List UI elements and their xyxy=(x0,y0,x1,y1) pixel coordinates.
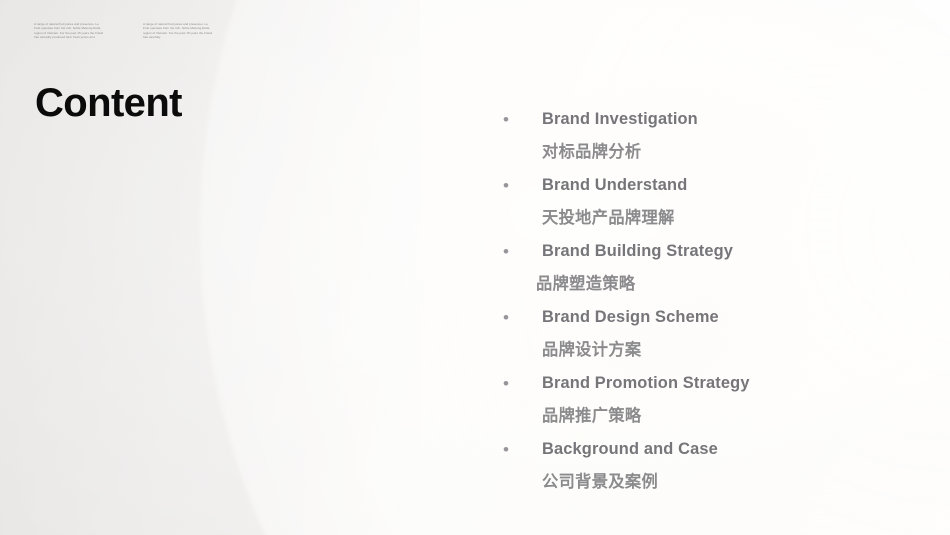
presentation-slide: A range of natural fruit juices and pres… xyxy=(0,0,950,535)
agenda-label-en: Brand Building Strategy xyxy=(521,240,923,262)
agenda-item-brand-building-strategy[interactable]: • Brand Building Strategy 品牌塑造策略 xyxy=(503,240,923,306)
micro-paragraph-left: A range of natural fruit juices and pres… xyxy=(34,22,105,40)
agenda-label-cn: 品牌推广策略 xyxy=(503,405,923,438)
agenda-list: • Brand Investigation 对标品牌分析 • Brand Und… xyxy=(503,108,923,504)
micro-paragraph-right: A range of natural fruit juices and pres… xyxy=(143,22,214,40)
agenda-label-en: Brand Understand xyxy=(521,174,923,196)
agenda-label-en: Background and Case xyxy=(521,438,923,460)
agenda-label-cn: 对标品牌分析 xyxy=(503,141,923,174)
agenda-label-cn: 公司背景及案例 xyxy=(503,471,923,504)
agenda-label-en: Brand Promotion Strategy xyxy=(521,372,923,394)
micro-paragraph-group: A range of natural fruit juices and pres… xyxy=(34,22,214,40)
bullet-icon: • xyxy=(503,306,521,329)
agenda-item-brand-understand[interactable]: • Brand Understand 天投地产品牌理解 xyxy=(503,174,923,240)
bullet-icon: • xyxy=(503,372,521,395)
agenda-row-en: • Brand Design Scheme xyxy=(503,306,923,339)
bullet-icon: • xyxy=(503,240,521,263)
bullet-icon: • xyxy=(503,438,521,461)
agenda-label-en: Brand Design Scheme xyxy=(521,306,923,328)
agenda-label-cn: 品牌塑造策略 xyxy=(503,273,923,306)
agenda-label-en: Brand Investigation xyxy=(521,108,923,130)
agenda-row-en: • Brand Investigation xyxy=(503,108,923,141)
agenda-item-brand-promotion-strategy[interactable]: • Brand Promotion Strategy 品牌推广策略 xyxy=(503,372,923,438)
agenda-row-en: • Brand Understand xyxy=(503,174,923,207)
bullet-icon: • xyxy=(503,108,521,131)
agenda-row-en: • Brand Promotion Strategy xyxy=(503,372,923,405)
agenda-item-background-and-case[interactable]: • Background and Case 公司背景及案例 xyxy=(503,438,923,504)
agenda-item-brand-design-scheme[interactable]: • Brand Design Scheme 品牌设计方案 xyxy=(503,306,923,372)
page-title: Content xyxy=(35,80,182,126)
bullet-icon: • xyxy=(503,174,521,197)
agenda-row-en: • Brand Building Strategy xyxy=(503,240,923,273)
agenda-label-cn: 品牌设计方案 xyxy=(503,339,923,372)
agenda-row-en: • Background and Case xyxy=(503,438,923,471)
agenda-item-brand-investigation[interactable]: • Brand Investigation 对标品牌分析 xyxy=(503,108,923,174)
agenda-label-cn: 天投地产品牌理解 xyxy=(503,207,923,240)
